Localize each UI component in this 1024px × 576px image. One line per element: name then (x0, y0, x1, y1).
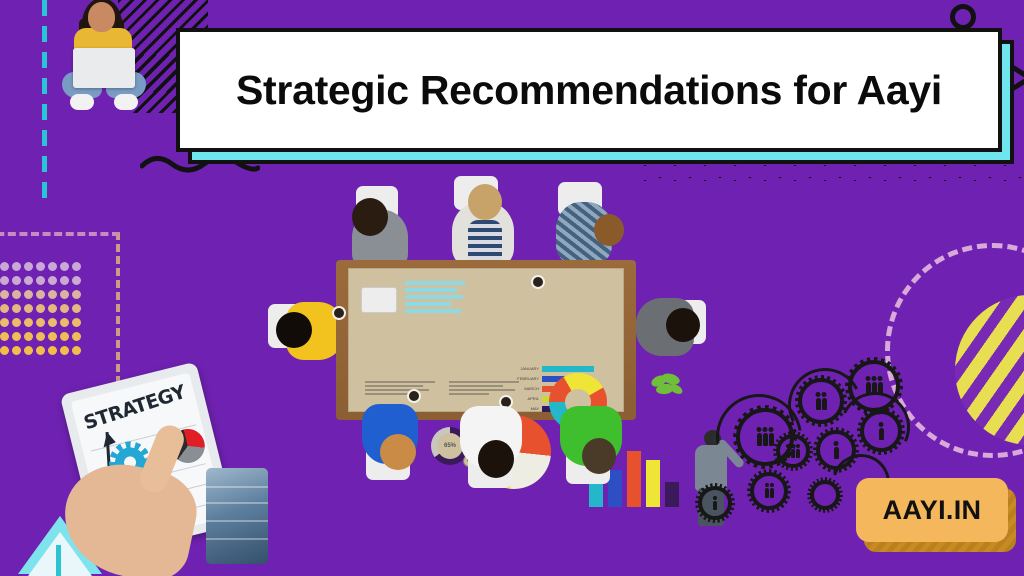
head (352, 198, 388, 236)
head (276, 312, 312, 348)
dot (48, 332, 57, 341)
person-figure (757, 433, 762, 446)
head (380, 434, 416, 470)
arrow-stem-decoration (56, 545, 61, 576)
table-paper-surface: JANUARYFEBRUARYMARCHAPRILMAY 65% ABCD (348, 268, 624, 412)
person-figure (765, 488, 769, 498)
laptop-icon (73, 48, 135, 88)
dot (48, 318, 57, 327)
dot (0, 304, 9, 313)
person-bottom-left (358, 404, 434, 488)
dot (72, 262, 81, 271)
dot (48, 346, 57, 355)
dot (72, 304, 81, 313)
strategy-tablet-image: STRATEGY (64, 368, 240, 576)
dot (48, 290, 57, 299)
head (666, 308, 700, 342)
dot (48, 262, 57, 271)
coffee-cup-3 (407, 389, 421, 403)
person-right (636, 292, 712, 362)
person-figure (796, 449, 800, 458)
head (468, 184, 502, 220)
dot (60, 276, 69, 285)
dot (60, 332, 69, 341)
text-block-left (365, 381, 435, 397)
woman-with-laptop-image (48, 0, 158, 125)
dot (12, 332, 21, 341)
person-figure (769, 433, 774, 446)
dot (36, 304, 45, 313)
dot (36, 332, 45, 341)
page-title: Strategic Recommendations for Aayi (236, 67, 942, 114)
shoe-left (70, 94, 94, 110)
dot (72, 332, 81, 341)
dot (24, 346, 33, 355)
dot (0, 276, 9, 285)
dot (12, 290, 21, 299)
month-bar (542, 366, 594, 372)
circle-outline-decoration (950, 4, 976, 30)
dot (24, 262, 33, 271)
brand-badge[interactable]: AAYI.IN (856, 478, 1016, 552)
dot (36, 318, 45, 327)
dot (36, 276, 45, 285)
dashed-vertical-line-decoration (42, 0, 47, 205)
coffee-cup-1 (531, 275, 545, 289)
person-figure (822, 398, 827, 410)
dot (72, 276, 81, 285)
plant-decoration (649, 369, 683, 399)
person-figure (878, 382, 883, 395)
donut-percent-label: 65% (444, 443, 456, 449)
chart-bar (665, 482, 679, 507)
dot (0, 262, 9, 271)
head (88, 2, 115, 32)
person-figure (816, 398, 821, 410)
person-bottom-center (456, 406, 534, 492)
month-row: JANUARY (509, 365, 605, 372)
shoe-right (114, 94, 138, 110)
people-figures (879, 423, 884, 440)
dot (24, 276, 33, 285)
people-figures (757, 428, 774, 446)
dot (72, 318, 81, 327)
person-figure (786, 449, 790, 458)
dot (60, 290, 69, 299)
dot (12, 262, 21, 271)
dot (12, 346, 21, 355)
people-figures (866, 377, 883, 395)
dot (24, 318, 33, 327)
slide-canvas: JANUARYFEBRUARYMARCHAPRILMAY 65% ABCD (0, 0, 1024, 576)
dot (24, 304, 33, 313)
dot (72, 290, 81, 299)
person-figure (879, 428, 884, 440)
person-figure (713, 501, 717, 510)
person-figure (770, 488, 774, 498)
head (478, 440, 514, 478)
dot (12, 318, 21, 327)
dot (60, 304, 69, 313)
tablet-widget (361, 287, 397, 313)
dot (12, 304, 21, 313)
chart-bar (646, 460, 660, 507)
dot (12, 276, 21, 285)
dot (0, 346, 9, 355)
person-figure (872, 382, 877, 395)
dot (36, 290, 45, 299)
dot (0, 290, 9, 299)
head (582, 438, 616, 474)
glass-object (206, 468, 268, 564)
dot (36, 346, 45, 355)
person-figure (763, 433, 768, 446)
dot (24, 332, 33, 341)
person-bottom-right (558, 406, 636, 492)
coffee-cup-4 (332, 306, 346, 320)
people-figures (816, 393, 827, 410)
dot (48, 304, 57, 313)
dot-matrix-decoration (0, 262, 84, 367)
dot (60, 262, 69, 271)
dot (0, 332, 9, 341)
banner-box: Strategic Recommendations for Aayi (176, 28, 1002, 152)
people-figures (713, 497, 717, 510)
dot (36, 262, 45, 271)
person-figure (866, 382, 871, 395)
dot (0, 318, 9, 327)
people-figures (765, 484, 774, 498)
people-figures (786, 445, 800, 458)
striped-circle-decoration (955, 295, 1024, 445)
person-figure (791, 449, 795, 458)
dot (72, 346, 81, 355)
dot (24, 290, 33, 299)
head (594, 214, 624, 246)
title-banner: Strategic Recommendations for Aayi (176, 28, 1002, 152)
gear-icon (698, 486, 732, 520)
badge-box[interactable]: AAYI.IN (856, 478, 1008, 542)
person-figure (834, 447, 839, 459)
month-label: JANUARY (509, 366, 539, 371)
badge-label: AAYI.IN (883, 495, 982, 526)
dot (60, 318, 69, 327)
team-meeting-scene: JANUARYFEBRUARYMARCHAPRILMAY 65% ABCD (258, 168, 728, 513)
dot (60, 346, 69, 355)
bar-lines-widget (405, 281, 465, 316)
people-figures (834, 442, 839, 459)
dot (48, 276, 57, 285)
